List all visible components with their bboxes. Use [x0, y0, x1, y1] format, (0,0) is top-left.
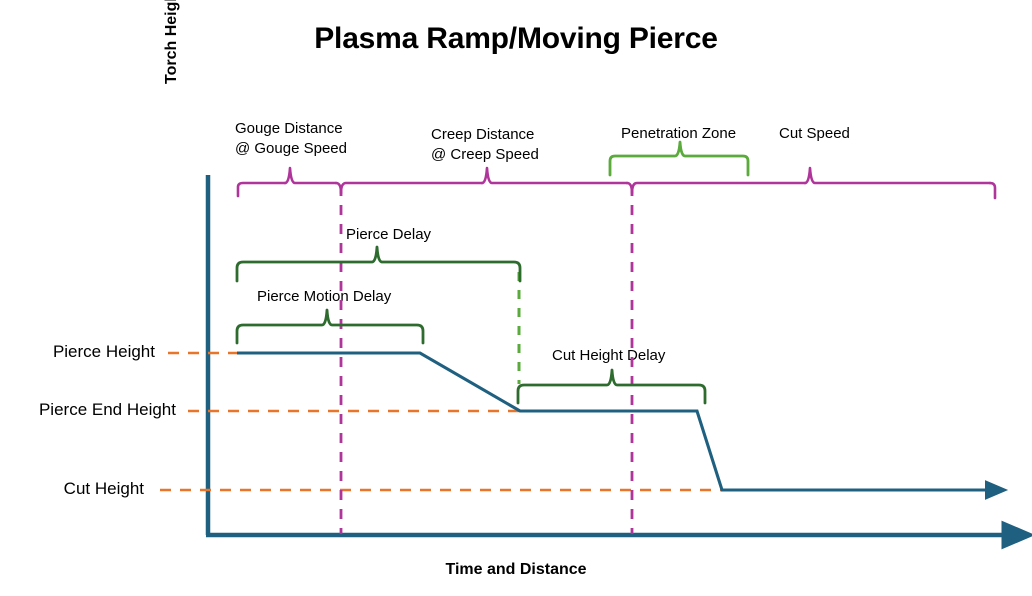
brace-pierce-delay-path: [237, 247, 520, 281]
diagram-graphics: [0, 0, 1032, 596]
brace-cut-height-delay-path: [518, 370, 705, 403]
brace-tick-cut-speed: [805, 168, 990, 183]
brace-top-speeds: [238, 168, 995, 198]
brace-pierce-motion-delay: [237, 310, 423, 343]
reference-level-lines: [160, 353, 722, 490]
brace-tick-creep: [482, 168, 627, 183]
brace-tick-gouge: [285, 168, 336, 183]
brace-cut-height-delay: [518, 370, 705, 403]
brace-creep-left: [341, 183, 482, 193]
brace-top-right-end: [990, 183, 995, 198]
axis-lines: [206, 175, 1006, 535]
event-marker-lines: [341, 186, 632, 534]
brace-pierce-delay: [237, 247, 520, 281]
brace-cutspeed-left: [632, 183, 805, 193]
brace-penetration-zone: [610, 142, 748, 175]
brace-top-left-end: [238, 183, 285, 196]
brace-penetration-zone-path: [610, 142, 748, 175]
brace-pierce-motion-delay-path: [237, 310, 423, 343]
diagram-canvas: Plasma Ramp/Moving Pierce Torch Height T…: [0, 0, 1032, 596]
